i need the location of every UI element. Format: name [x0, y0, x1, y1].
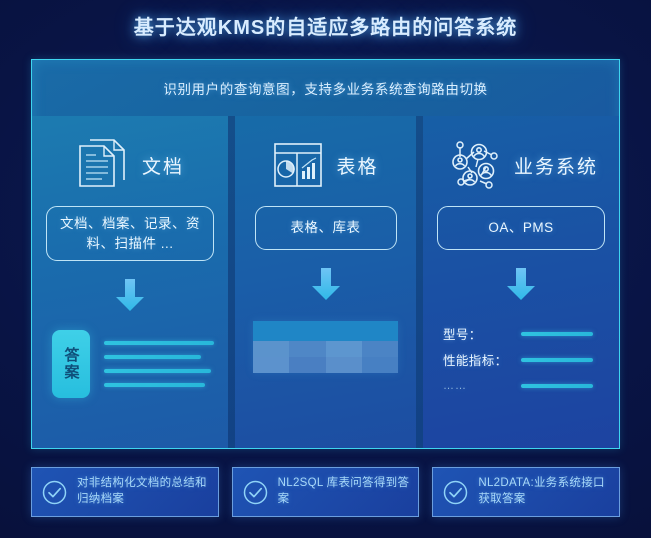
column-table-header: 表格 [249, 126, 402, 204]
column-document-arrow-wrap [46, 277, 214, 318]
result-field: …… [443, 373, 605, 399]
column-business-system-label: 业务系统 [514, 152, 598, 179]
table-header-cell [253, 321, 289, 341]
table-cell [326, 357, 362, 373]
column-document-result: 答案 [46, 330, 214, 398]
column-document-tag[interactable]: 文档、档案、记录、资料、扫描件 ... [46, 206, 214, 261]
check-circle-icon [442, 479, 469, 506]
column-divider [228, 116, 235, 448]
table-cell [253, 341, 289, 357]
check-circle-icon [41, 479, 68, 506]
answer-badge: 答案 [52, 330, 90, 398]
answer-line [104, 369, 211, 373]
result-field-label: 性能指标： [443, 350, 521, 369]
column-table-arrow-wrap [249, 266, 402, 307]
page-title: 基于达观KMS的自适应多路由的问答系统 [134, 11, 517, 40]
result-field-label: …… [443, 380, 521, 392]
table-cell [289, 357, 325, 373]
table-cell [289, 341, 325, 357]
title-bar: 基于达观KMS的自适应多路由的问答系统 [0, 0, 651, 50]
check-circle-icon [242, 479, 269, 506]
main-panel: 识别用户的查询意图，支持多业务系统查询路由切换 [31, 59, 620, 449]
dashboard-chart-icon [272, 140, 324, 190]
answer-lines [104, 341, 214, 387]
footer-card-text: 对非结构化文档的总结和归纳档案 [77, 476, 209, 507]
result-table [253, 321, 398, 373]
table-cell [253, 357, 289, 373]
column-business-system-header: 业务系统 [437, 126, 605, 204]
footer-card-document[interactable]: 对非结构化文档的总结和归纳档案 [31, 467, 219, 517]
column-table-label: 表格 [336, 152, 378, 179]
column-document-label: 文档 [142, 152, 184, 179]
column-table-result [249, 321, 402, 373]
result-field-value [521, 332, 593, 336]
footer-card-nl2sql[interactable]: NL2SQL 库表问答得到答案 [232, 467, 420, 517]
table-row [253, 341, 398, 357]
column-business-system-tag[interactable]: OA、PMS [437, 206, 605, 250]
table-header-row [253, 321, 398, 341]
result-field-value [521, 384, 593, 388]
table-header-cell [289, 321, 325, 341]
result-field-value [521, 358, 593, 362]
footer-card-text: NL2SQL 库表问答得到答案 [278, 476, 410, 507]
down-arrow-icon [113, 277, 147, 318]
footer-card-nl2data[interactable]: NL2DATA:业务系统接口获取答案 [432, 467, 620, 517]
network-nodes-icon [444, 137, 502, 193]
result-field: 性能指标： [443, 347, 605, 373]
answer-line [104, 383, 205, 387]
panel-subtitle: 识别用户的查询意图，支持多业务系统查询路由切换 [163, 78, 487, 98]
table-cell [362, 341, 398, 357]
column-document-header: 文档 [46, 126, 214, 204]
table-row [253, 357, 398, 373]
footer-card-text: NL2DATA:业务系统接口获取答案 [478, 476, 610, 507]
column-document[interactable]: 文档 文档、档案、记录、资料、扫描件 ... [32, 116, 228, 448]
column-business-system-result: 型号： 性能指标： …… [437, 321, 605, 399]
column-business-system[interactable]: 业务系统 OA、PMS [423, 116, 619, 448]
column-business-system-arrow-wrap [437, 266, 605, 307]
table-header-cell [362, 321, 398, 341]
result-field: 型号： [443, 321, 605, 347]
column-divider [416, 116, 423, 448]
document-icon [76, 136, 130, 194]
columns-container: 文档 文档、档案、记录、资料、扫描件 ... [32, 116, 619, 448]
down-arrow-icon [309, 266, 343, 307]
subtitle-row: 识别用户的查询意图，支持多业务系统查询路由切换 [32, 60, 619, 116]
table-header-cell [326, 321, 362, 341]
table-cell [326, 341, 362, 357]
column-table[interactable]: 表格 表格、库表 [235, 116, 416, 448]
down-arrow-icon [504, 266, 538, 307]
answer-line [104, 341, 214, 345]
column-table-tag[interactable]: 表格、库表 [255, 206, 397, 250]
result-field-label: 型号： [443, 324, 521, 343]
table-cell [362, 357, 398, 373]
footer-cards: 对非结构化文档的总结和归纳档案 NL2SQL 库表问答得到答案 NL2DATA:… [31, 467, 620, 517]
answer-line [104, 355, 201, 359]
